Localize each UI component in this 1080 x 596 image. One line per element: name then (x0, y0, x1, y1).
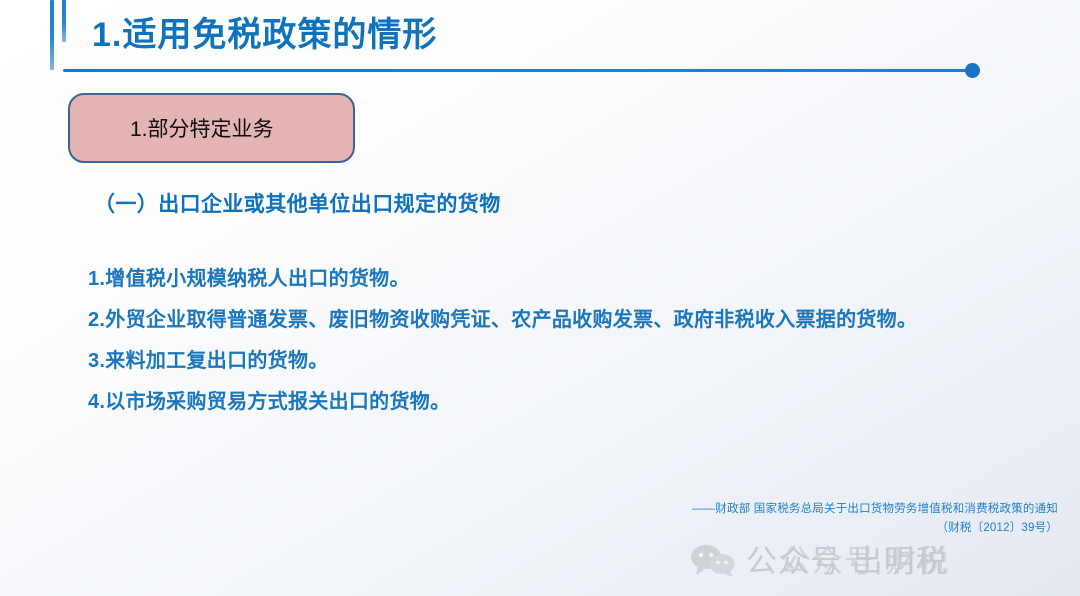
section-chip-label: 1.部分特定业务 (130, 113, 274, 143)
watermark: 公众号 财税 公众号 出明税 (690, 532, 1080, 592)
sub-heading: （一）出口企业或其他单位出口规定的货物 (94, 188, 501, 218)
source-citation: ——财政部 国家税务总局关于出口货物劳务增值税和消费税政策的通知 （财税〔201… (692, 500, 1058, 538)
title-divider-rule (63, 69, 973, 72)
citation-line-primary: ——财政部 国家税务总局关于出口货物劳务增值税和消费税政策的通知 (692, 500, 1058, 519)
list-item: 2.外贸企业取得普通发票、废旧物资收购凭证、农产品收购发票、政府非税收入票据的货… (88, 307, 1048, 334)
watermark-text-stack: 公众号 财税 公众号 出明税 (746, 542, 1080, 582)
wechat-icon (690, 544, 736, 583)
watermark-text-back: 公众号 财税 (780, 542, 950, 582)
list-item: 1.增值税小规模纳税人出口的货物。 (88, 266, 1048, 293)
citation-line-document-number: （财税〔2012〕39号） (692, 519, 1058, 538)
watermark-text-front: 公众号 出明税 (746, 542, 948, 582)
title-divider-end-dot-icon (965, 63, 980, 78)
list-item: 3.来料加工复出口的货物。 (88, 348, 1048, 375)
decor-vertical-bar-short (62, 0, 66, 42)
decor-vertical-bar-long (50, 0, 54, 70)
page-title: 1.适用免税政策的情形 (92, 13, 437, 57)
body-list: 1.增值税小规模纳税人出口的货物。 2.外贸企业取得普通发票、废旧物资收购凭证、… (88, 266, 1048, 430)
section-chip: 1.部分特定业务 (68, 93, 355, 163)
list-item: 4.以市场采购贸易方式报关出口的货物。 (88, 389, 1048, 416)
slide-canvas: 1.适用免税政策的情形 1.部分特定业务 （一）出口企业或其他单位出口规定的货物… (0, 0, 1080, 596)
